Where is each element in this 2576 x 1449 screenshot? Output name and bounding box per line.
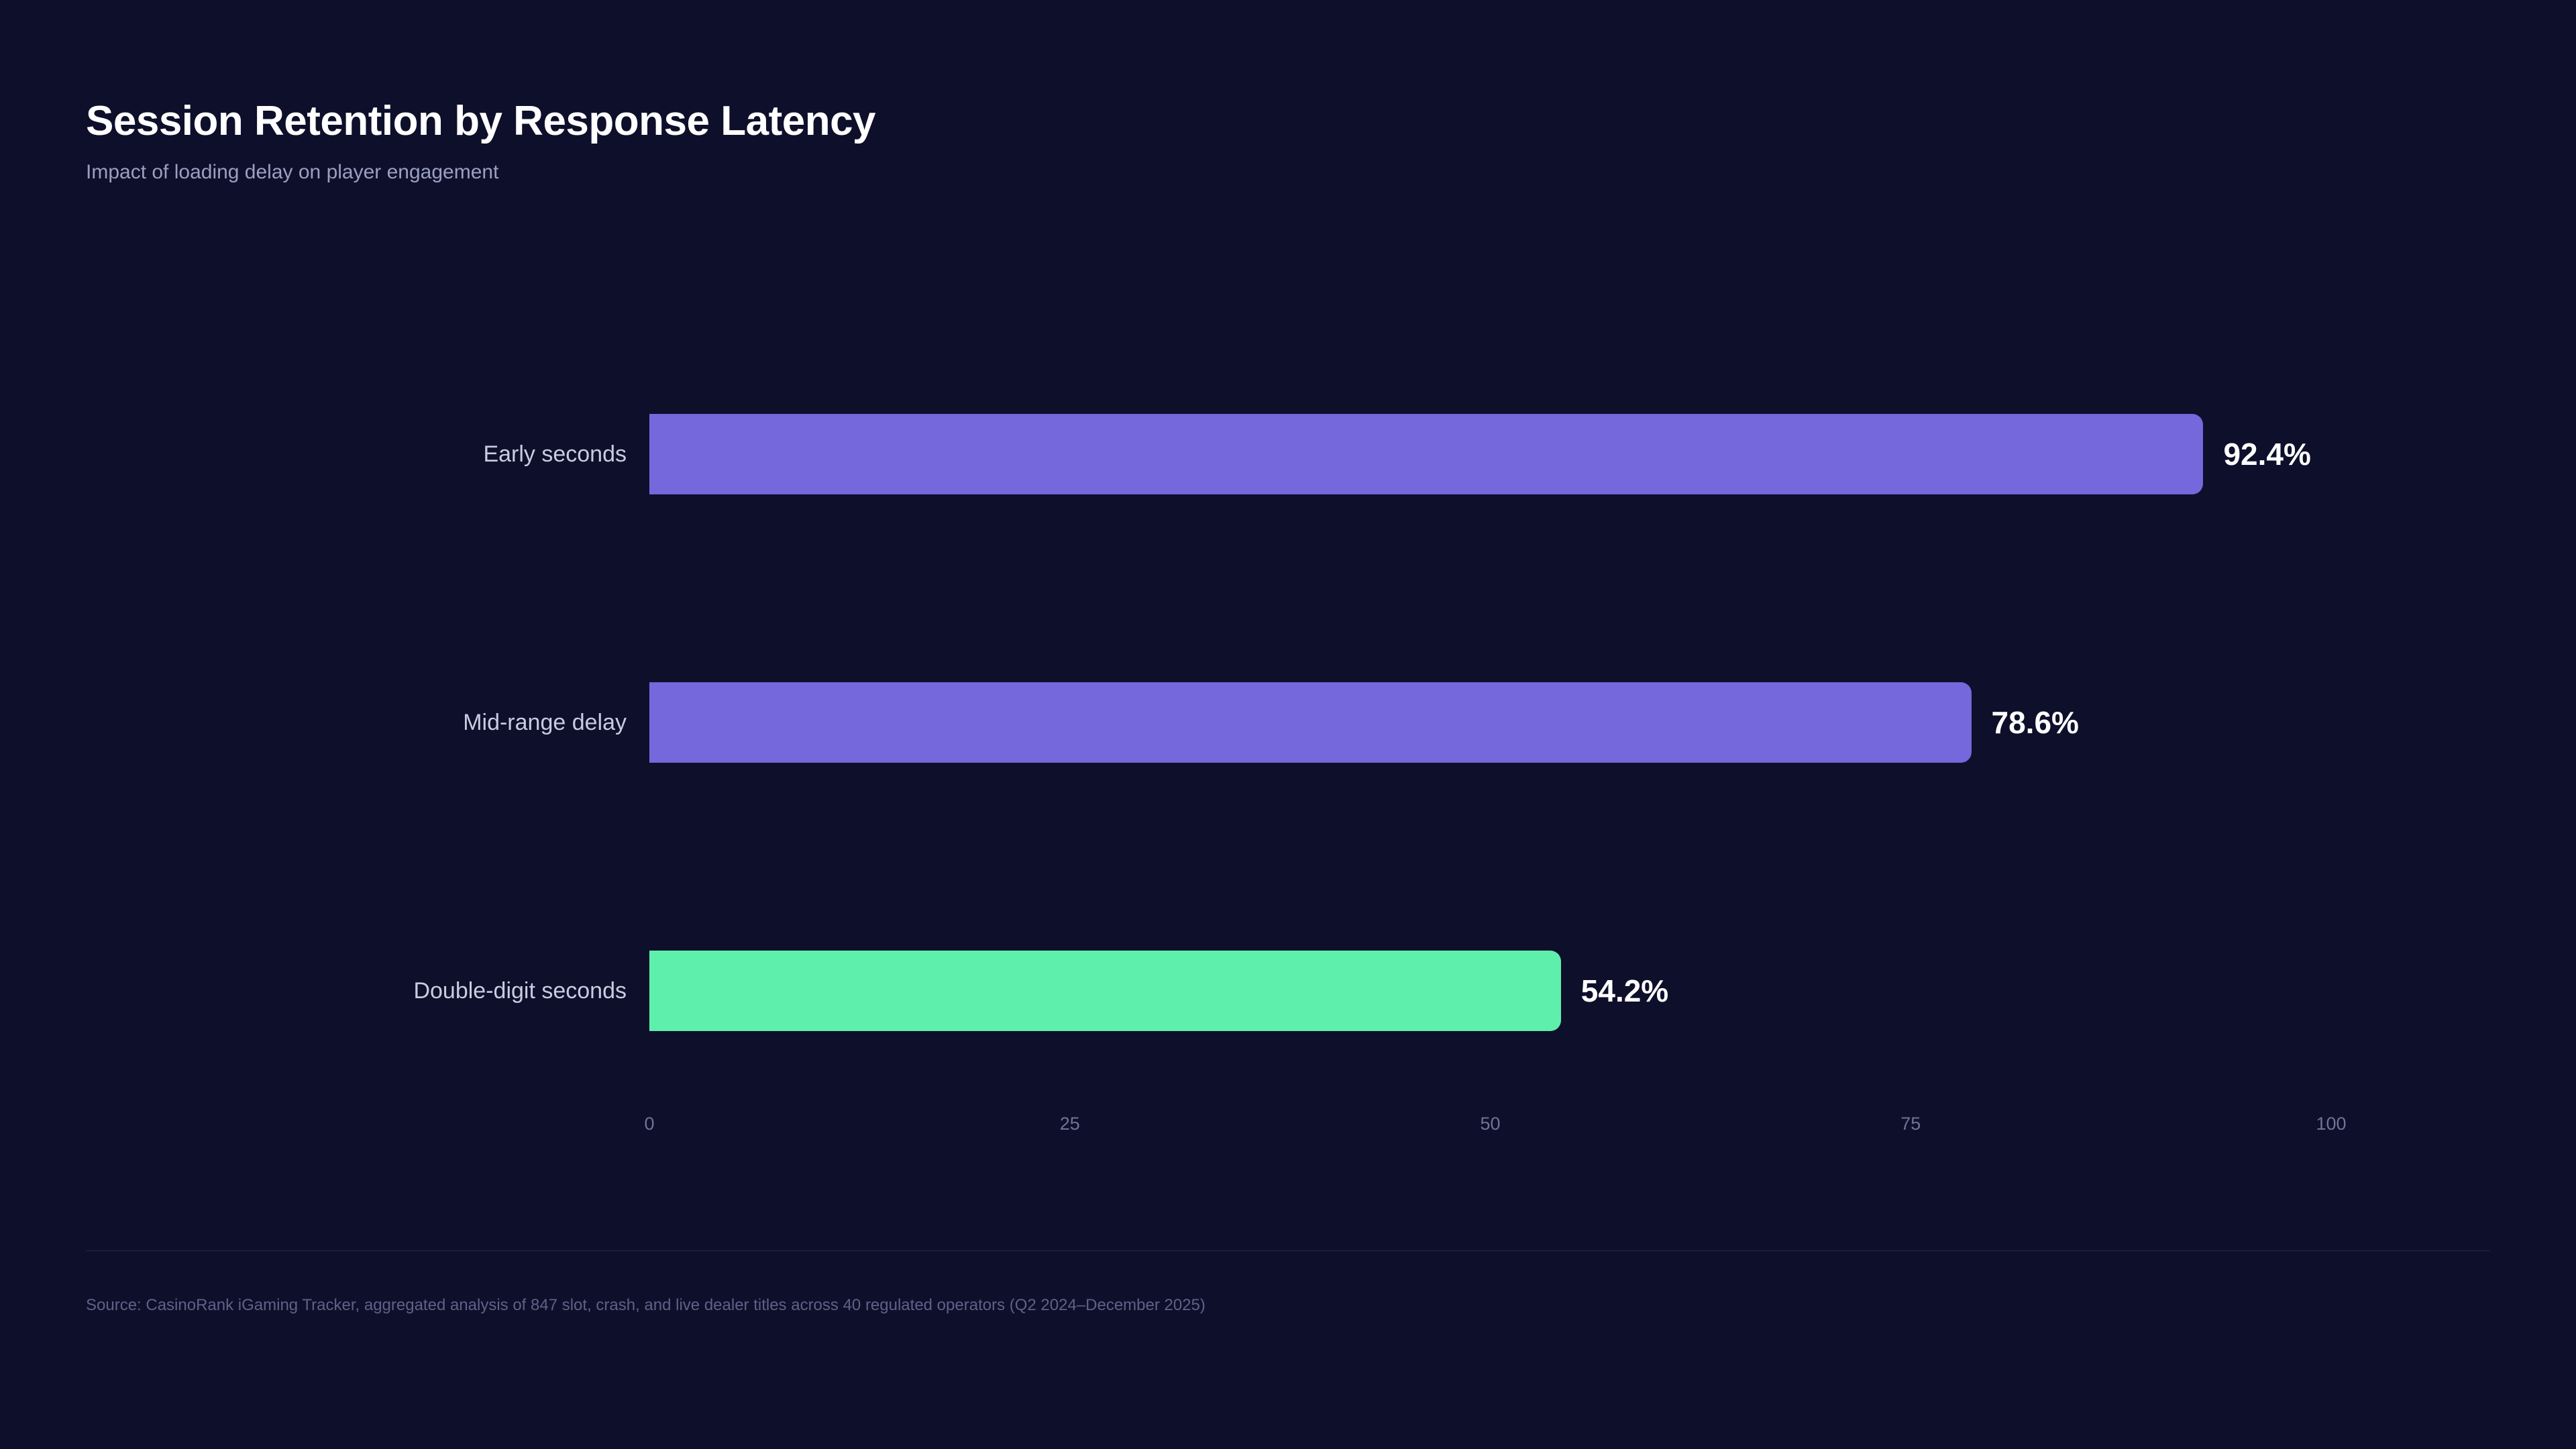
bar[interactable] [649,951,1561,1031]
bar-row: Early seconds92.4% [0,414,2576,494]
bar-track: 92.4% [649,414,2331,494]
plot-area: Early seconds92.4%Mid-range delay78.6%Do… [0,0,2576,1449]
x-axis-tick-label: 0 [644,1114,654,1134]
x-axis-tick-label: 100 [2316,1114,2346,1134]
bar[interactable] [649,682,1972,763]
bar-track: 78.6% [649,682,2331,763]
bar-track: 54.2% [649,951,2331,1031]
bar-category-label: Mid-range delay [463,682,649,763]
chart-canvas: Session Retention by Response Latency Im… [0,0,2576,1449]
bar-value-label: 54.2% [1561,951,1668,1031]
bar-category-label: Early seconds [483,414,649,494]
bar-value-label: 92.4% [2203,414,2310,494]
source-note: Source: CasinoRank iGaming Tracker, aggr… [86,1296,1205,1315]
x-axis-tick-label: 25 [1060,1114,1080,1134]
bar-value-label: 78.6% [1972,682,2079,763]
footer-divider [86,1250,2490,1251]
bar-row: Double-digit seconds54.2% [0,951,2576,1031]
bar[interactable] [649,414,2203,494]
bar-category-label: Double-digit seconds [413,951,649,1031]
x-axis-tick-label: 75 [1900,1114,1921,1134]
bar-row: Mid-range delay78.6% [0,682,2576,763]
x-axis: 0255075100 [649,1114,2331,1154]
x-axis-tick-label: 50 [1480,1114,1500,1134]
